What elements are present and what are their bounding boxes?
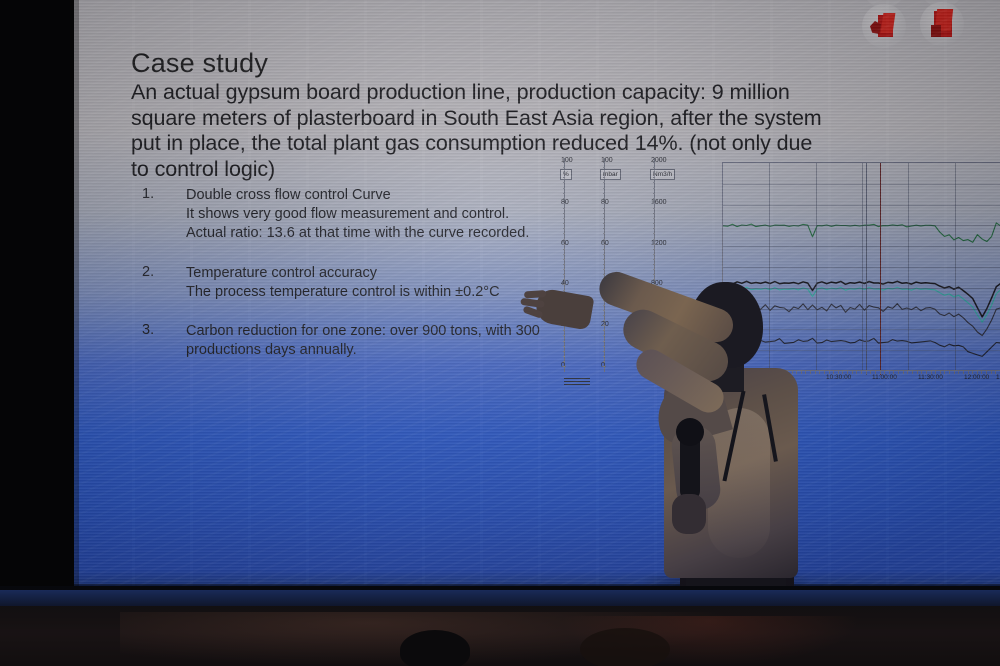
list-item-1-line-3: Actual ratio: 13.6 at that time with the… [186,224,604,243]
slide-title: Case study [131,48,268,79]
intro-line-2: square meters of plasterboard in South E… [131,106,836,132]
list-item-2-line-1: Temperature control accuracy [186,264,604,283]
y-axis-unit-label: % [560,169,572,180]
badge-row-top-clipped [856,0,1000,2]
list-item-1-line-2: It shows very good flow measurement and … [186,205,604,224]
list-item-1: 1. Double cross flow control Curve It sh… [134,186,604,243]
y-axis-unit-label: mbar [600,169,621,180]
list-item-3-body: Carbon reduction for one zone: over 900 … [186,322,604,360]
badge-circle-2 [920,2,964,46]
chart-gridline-horizontal [723,225,1000,226]
photo-scene: Case study An actual gypsum board produc… [0,0,1000,666]
intro-line-1: An actual gypsum board production line, … [131,80,836,106]
screen-edge-left [74,0,79,588]
list-item-1-line-1: Double cross flow control Curve [186,186,604,205]
chart-gridline-horizontal [723,246,1000,247]
chart-cursor-line [880,163,881,375]
audience-head-2 [580,628,670,666]
x-axis-tick-label: 11:00:00 [872,374,897,381]
room-dark-left [0,0,74,592]
legend-mark-left [564,378,590,388]
list-item-3-number: 3. [142,322,154,338]
red-marker-icon-2 [930,9,958,39]
list-item-1-number: 1. [142,186,154,202]
x-axis-tick-label: 1 [996,374,1000,381]
chart-gridline-horizontal [723,205,1000,206]
slide-numbered-list: 1. Double cross flow control Curve It sh… [134,186,604,367]
chart-gridline-horizontal [723,184,1000,185]
red-marker-icon-1 [870,13,898,39]
x-axis-tick-label: 10:30:00 [826,374,851,381]
audience-head-1 [400,630,470,666]
slide-corner-badges [856,0,1000,56]
y-axis-: 100%806040200 [564,158,591,372]
list-item-2-number: 2. [142,264,154,280]
list-item-3-line-2: productions days annually. [186,341,604,360]
badge-circle-1 [862,4,906,48]
y-axis-unit-label: Nm3/h [650,169,675,180]
chart-cursor-secondary [866,163,867,375]
microphone-head-icon [676,418,704,446]
x-axis-tick-label: 11:30:00 [918,374,943,381]
list-item-1-body: Double cross flow control Curve It shows… [186,186,604,243]
intro-line-3: put in place, the total plant gas consum… [131,131,836,157]
presenter-mic-hand [672,494,706,534]
list-item-3-line-1: Carbon reduction for one zone: over 900 … [186,322,604,341]
list-item-3: 3. Carbon reduction for one zone: over 9… [134,322,604,360]
x-axis-tick-label: 12:00:00 [964,374,989,381]
